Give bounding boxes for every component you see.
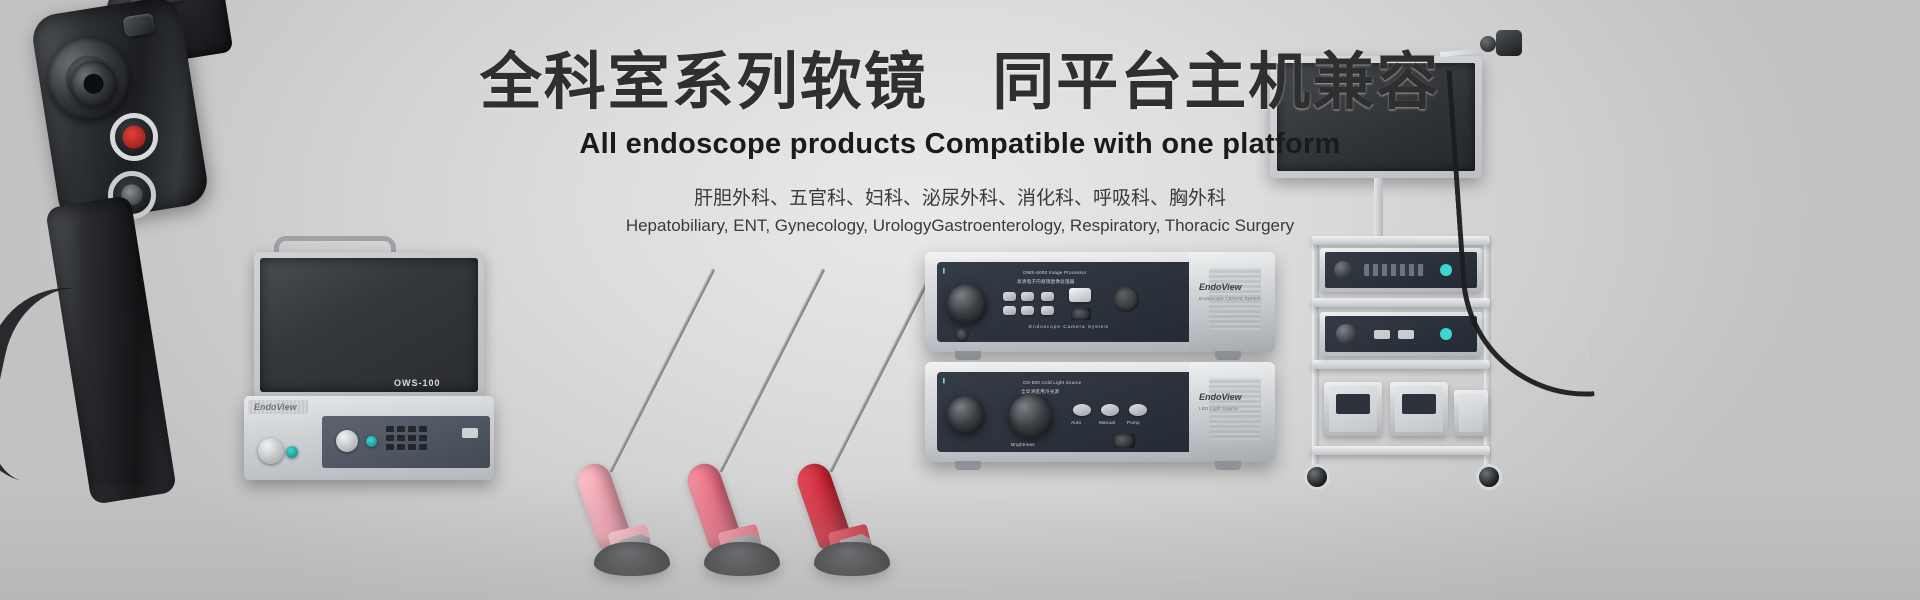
processor-foot-left [955, 351, 981, 360]
cart-light-source-button-1 [1374, 330, 1390, 339]
light-source-port-dial [947, 396, 985, 434]
cart-rail-left [1312, 236, 1319, 468]
ows-100-workstation: EndoView OWS-100 [238, 252, 500, 484]
processor-button-2 [1021, 292, 1034, 301]
processor-light-source-stack: OWS-6000 Image Processor 高清电子内窥镜图像处理器 ▌ … [925, 252, 1275, 464]
processor-button-6 [1041, 306, 1054, 315]
light-source-foot-left [955, 461, 981, 470]
processor-port-1 [955, 328, 969, 342]
light-source-button-label-pump: Pump [1127, 420, 1140, 425]
cart-shelf-3 [1312, 360, 1490, 369]
image-processor-unit: OWS-6000 Image Processor 高清电子内窥镜图像处理器 ▌ … [925, 252, 1275, 352]
light-source-right-side: EndoView LED Light Source [1189, 362, 1275, 462]
light-source-logo-mark: ▌ [943, 378, 946, 383]
cart-small-left-screen [1336, 394, 1370, 414]
headline-part-1: 全科室系列软镜 [480, 48, 928, 117]
cart-light-source-led [1440, 328, 1452, 340]
processor-main-dial [947, 284, 987, 324]
cart-device-small-right [1454, 390, 1488, 436]
processor-foot-right [1215, 351, 1241, 360]
processor-sub-label: Endoscope Camera System [1029, 324, 1109, 329]
cart-processor-dial [1334, 261, 1352, 279]
processor-title-en: OWS-6000 Image Processor [1023, 270, 1087, 275]
departments-english: Hepatobiliary, ENT, Gynecology, UrologyG… [0, 214, 1920, 238]
processor-usb-port [1071, 308, 1091, 320]
light-source-brand-sub: LED Light Source [1199, 406, 1238, 411]
processor-button-3 [1003, 306, 1016, 315]
cart-device-processor [1320, 248, 1482, 292]
cart-processor-keys [1364, 264, 1424, 276]
light-source-brand-label: EndoView [1199, 392, 1242, 402]
headline-part-2: 同平台主机兼容 [992, 48, 1440, 117]
processor-brand-sub: Endoscope Camera System [1199, 296, 1261, 301]
light-source-button-manual [1101, 404, 1119, 416]
cart-device-small-mid [1390, 382, 1448, 436]
light-source-brightness-dial [1009, 394, 1053, 438]
banner-text-block: 全科室系列软镜 同平台主机兼容 All endoscope products C… [0, 46, 1920, 238]
cart-device-small-right-face [1459, 394, 1483, 432]
ows-control-panel [322, 416, 490, 468]
ows-display [254, 252, 484, 398]
cart-wheel-left [1304, 464, 1330, 490]
cart-light-source-button-2 [1398, 330, 1414, 339]
page-title: 全科室系列软镜 同平台主机兼容 [0, 46, 1920, 120]
ows-power-indicator [366, 436, 377, 447]
cart-light-source-dial [1336, 324, 1356, 344]
processor-wide-button [1069, 288, 1091, 302]
laparoscopic-instrument-red [732, 346, 872, 576]
subtitle-english: All endoscope products Compatible with o… [0, 126, 1920, 162]
processor-button-5 [1041, 292, 1054, 301]
cart-device-small-left [1324, 382, 1382, 436]
light-source-foot-right [1215, 461, 1241, 470]
cart-processor-led [1440, 264, 1452, 276]
processor-brand-label: EndoView [1199, 282, 1242, 292]
light-source-dial-label: Brightness [1011, 442, 1035, 447]
light-source-outlet [1113, 434, 1135, 448]
ows-connector-port [258, 438, 284, 464]
processor-right-side: EndoView Endoscope Camera System [1189, 252, 1275, 352]
processor-logo-mark: ▌ [943, 268, 946, 273]
ows-display-glass [260, 258, 478, 392]
processor-scope-socket [1113, 286, 1139, 312]
light-source-title-en: OS-500 Cold Light Source [1023, 380, 1081, 385]
promo-banner: 全科室系列软镜 同平台主机兼容 All endoscope products C… [0, 0, 1920, 600]
cart-small-mid-screen [1402, 394, 1436, 414]
light-source-button-label-manual: Manual [1099, 420, 1115, 425]
ows-base-unit: EndoView OWS-100 [244, 396, 494, 480]
processor-button-1 [1003, 292, 1016, 301]
processor-title-cn: 高清电子内窥镜图像处理器 [1017, 279, 1075, 285]
cart-device-light-source [1320, 312, 1482, 356]
endoscope-suction-button [123, 13, 156, 37]
light-source-unit: OS-500 Cold Light Source 全高清医用冷光源 ▌ Brig… [925, 362, 1275, 462]
light-source-button-pump [1129, 404, 1147, 416]
cart-shelf-4 [1312, 446, 1490, 455]
ows-side-button [462, 428, 478, 438]
ows-model-label: OWS-100 [394, 378, 441, 388]
ows-vent [248, 400, 308, 414]
ows-main-dial [336, 430, 358, 452]
processor-button-4 [1021, 306, 1034, 315]
instrument-stand [814, 542, 890, 576]
instrument-shaft [828, 268, 935, 473]
cart-wheel-right [1476, 464, 1502, 490]
ows-status-led [286, 446, 298, 458]
departments-chinese: 肝胆外科、五官科、妇科、泌尿外科、消化科、呼吸科、胸外科 [0, 186, 1920, 212]
ows-keypad [386, 426, 427, 450]
light-source-button-label-auto: Auto [1071, 420, 1081, 425]
light-source-button-auto [1073, 404, 1091, 416]
